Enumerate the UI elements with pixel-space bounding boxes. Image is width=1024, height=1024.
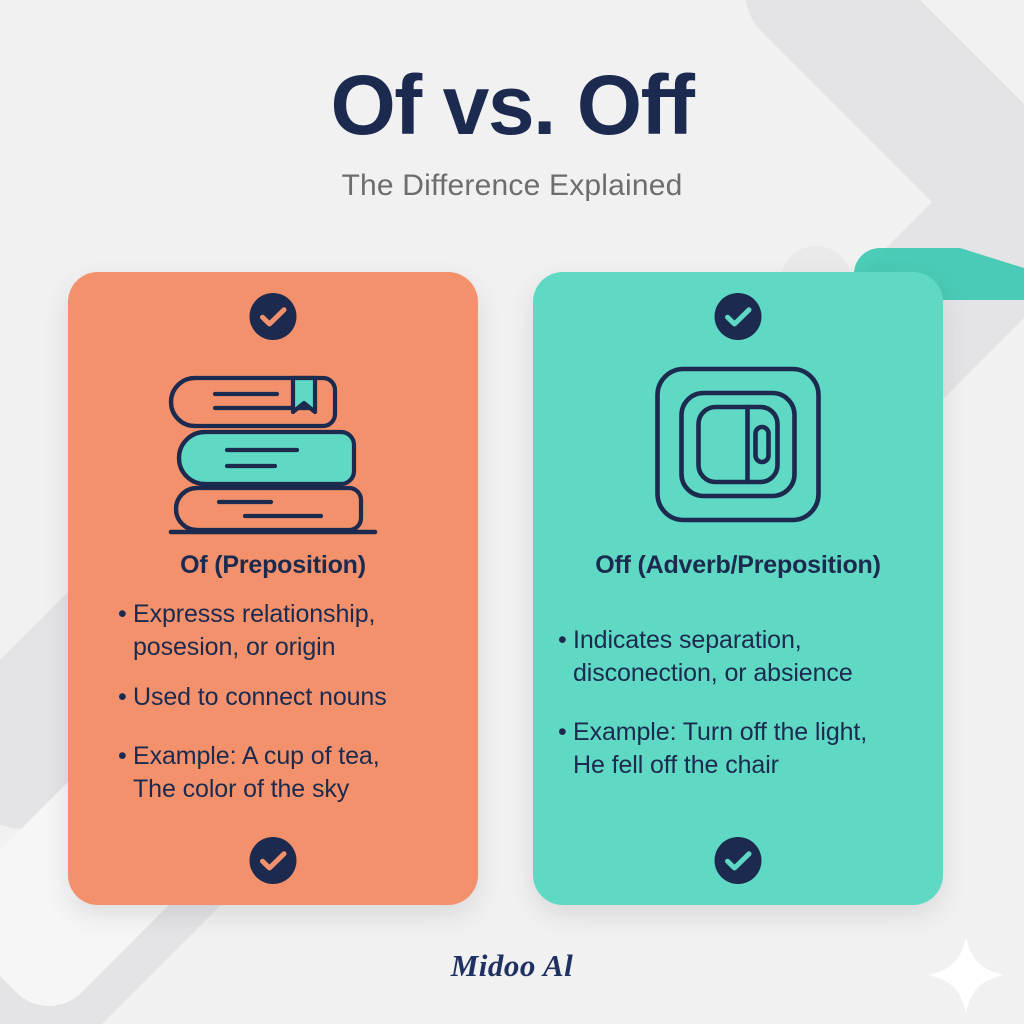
card-heading: Off (Adverb/Preposition)	[533, 551, 943, 580]
bullet-line: Expresss relationship,	[133, 598, 452, 631]
list-item: Example: A cup of tea, The color of the …	[68, 740, 478, 806]
list-item: Used to connect nouns	[68, 681, 478, 714]
list-item: Expresss relationship, posesion, or orig…	[68, 598, 478, 664]
page-subtitle: The Difference Explained	[0, 168, 1024, 204]
check-circle-icon	[715, 293, 762, 340]
check-circle-icon	[250, 293, 297, 340]
card-of[interactable]: Of (Preposition) Expresss relationship, …	[68, 272, 478, 905]
bullet-line: Example: Turn off the light,	[573, 716, 917, 749]
bullet-list: Expresss relationship, posesion, or orig…	[68, 598, 478, 823]
light-switch-icon	[651, 362, 826, 527]
infographic-canvas: Of vs. Off The Difference Explained	[0, 0, 1024, 1024]
bullet-line: disconection, or absience	[573, 657, 917, 690]
bullet-line: posesion, or origin	[133, 631, 452, 664]
bullet-list: Indicates separation, disconection, or a…	[533, 624, 943, 799]
page-title: Of vs. Off	[0, 63, 1024, 147]
list-item: Indicates separation, disconection, or a…	[533, 624, 943, 690]
bullet-line: Indicates separation,	[573, 624, 917, 657]
card-off[interactable]: Off (Adverb/Preposition) Indicates separ…	[533, 272, 943, 905]
bullet-line: Used to connect nouns	[133, 681, 452, 714]
card-heading: Of (Preposition)	[68, 551, 478, 580]
bullet-line: The color of the sky	[133, 773, 452, 806]
check-circle-icon	[250, 837, 297, 884]
check-circle-icon	[715, 837, 762, 884]
bullet-line: Example: A cup of tea,	[133, 740, 452, 773]
stack-of-books-icon	[163, 362, 383, 537]
bullet-line: He fell off the chair	[573, 749, 917, 782]
footer-watermark: Midoo Al	[0, 948, 1024, 984]
list-item: Example: Turn off the light, He fell off…	[533, 716, 943, 782]
